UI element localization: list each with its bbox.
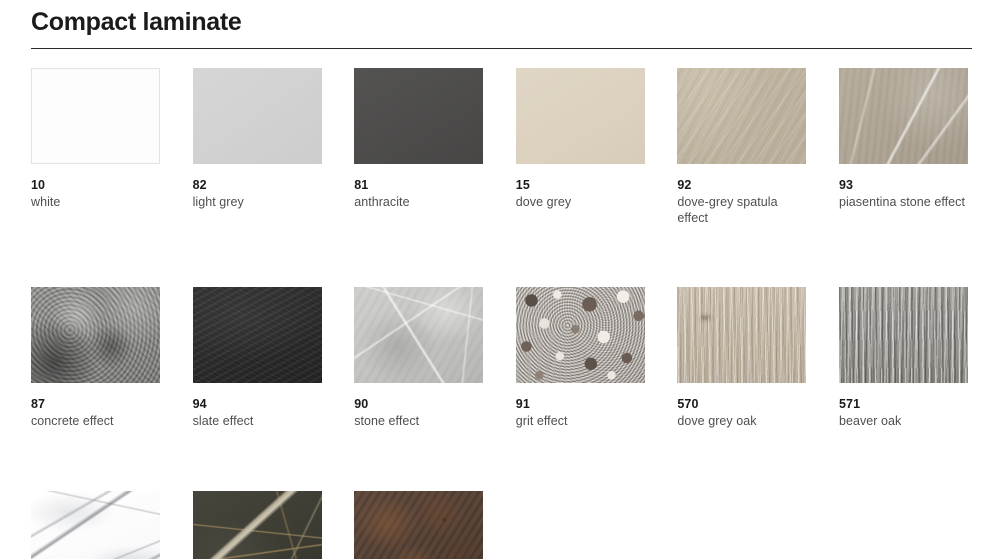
swatch-card[interactable]: 573corten effect: [354, 491, 483, 559]
material-texture-icon: [354, 68, 483, 164]
swatch-code: 94: [193, 397, 322, 412]
swatch-card[interactable]: 82light grey: [193, 68, 322, 226]
swatch-sample-94[interactable]: [193, 287, 322, 383]
swatch-code: 570: [677, 397, 806, 412]
swatch-name: beaver oak: [839, 414, 968, 430]
swatch-card[interactable]: 572Carrara marble effect: [31, 491, 160, 559]
material-texture-icon: [516, 287, 645, 383]
swatch-code: 91: [516, 397, 645, 412]
swatch-sample-91[interactable]: [516, 287, 645, 383]
swatch-sample-82[interactable]: [193, 68, 322, 164]
material-texture-icon: [31, 491, 160, 559]
swatch-card[interactable]: 90stone effect: [354, 287, 483, 430]
material-texture-icon: [839, 287, 968, 383]
material-texture-icon: [31, 68, 160, 164]
swatch-sample-570[interactable]: [677, 287, 806, 383]
swatch-sample-573[interactable]: [354, 491, 483, 559]
swatch-card[interactable]: 571beaver oak: [839, 287, 968, 430]
swatch-name: grit effect: [516, 414, 645, 430]
swatch-card[interactable]: 91grit effect: [516, 287, 645, 430]
swatch-sample-15[interactable]: [516, 68, 645, 164]
swatch-name: slate effect: [193, 414, 322, 430]
swatch-sample-92[interactable]: [677, 68, 806, 164]
swatch-card[interactable]: 87concrete effect: [31, 287, 160, 430]
swatch-name: dove grey oak: [677, 414, 806, 430]
material-texture-icon: [516, 68, 645, 164]
material-texture-icon: [31, 287, 160, 383]
compact-laminate-page: Compact laminate 10white82light grey81an…: [0, 0, 1000, 559]
swatch-name: concrete effect: [31, 414, 160, 430]
material-texture-icon: [677, 68, 806, 164]
swatch-card[interactable]: 94slate effect: [193, 287, 322, 430]
swatch-code: 93: [839, 178, 968, 193]
swatch-sample-572[interactable]: [31, 491, 160, 559]
swatch-code: 82: [193, 178, 322, 193]
swatch-sample-10[interactable]: [31, 68, 160, 164]
swatch-code: 571: [839, 397, 968, 412]
swatch-card[interactable]: 15dove grey: [516, 68, 645, 226]
swatch-grid: 10white82light grey81anthracite15dove gr…: [31, 68, 979, 559]
swatch-code: 92: [677, 178, 806, 193]
title-divider: [31, 48, 972, 49]
swatch-sample-575[interactable]: [193, 491, 322, 559]
swatch-card[interactable]: 81anthracite: [354, 68, 483, 226]
material-texture-icon: [193, 68, 322, 164]
swatch-code: 81: [354, 178, 483, 193]
swatch-card[interactable]: 10white: [31, 68, 160, 226]
swatch-sample-87[interactable]: [31, 287, 160, 383]
material-texture-icon: [354, 287, 483, 383]
swatch-card[interactable]: 570dove grey oak: [677, 287, 806, 430]
swatch-name: white: [31, 195, 160, 211]
material-texture-icon: [839, 68, 968, 164]
swatch-card[interactable]: 575black Sahara marble effect: [193, 491, 322, 559]
swatch-sample-81[interactable]: [354, 68, 483, 164]
swatch-card[interactable]: 92dove-grey spatula effect: [677, 68, 806, 226]
swatch-code: 15: [516, 178, 645, 193]
swatch-card[interactable]: 93piasentina stone effect: [839, 68, 968, 226]
swatch-name: light grey: [193, 195, 322, 211]
swatch-name: dove grey: [516, 195, 645, 211]
swatch-sample-90[interactable]: [354, 287, 483, 383]
swatch-code: 90: [354, 397, 483, 412]
swatch-code: 87: [31, 397, 160, 412]
swatch-code: 10: [31, 178, 160, 193]
material-texture-icon: [354, 491, 483, 559]
swatch-name: stone effect: [354, 414, 483, 430]
swatch-name: piasentina stone effect: [839, 195, 968, 211]
swatch-sample-571[interactable]: [839, 287, 968, 383]
material-texture-icon: [677, 287, 806, 383]
page-title: Compact laminate: [31, 6, 972, 38]
swatch-name: dove-grey spatula effect: [677, 195, 806, 226]
material-texture-icon: [193, 491, 322, 559]
swatch-sample-93[interactable]: [839, 68, 968, 164]
page-header: Compact laminate: [31, 6, 972, 49]
swatch-name: anthracite: [354, 195, 483, 211]
material-texture-icon: [193, 287, 322, 383]
